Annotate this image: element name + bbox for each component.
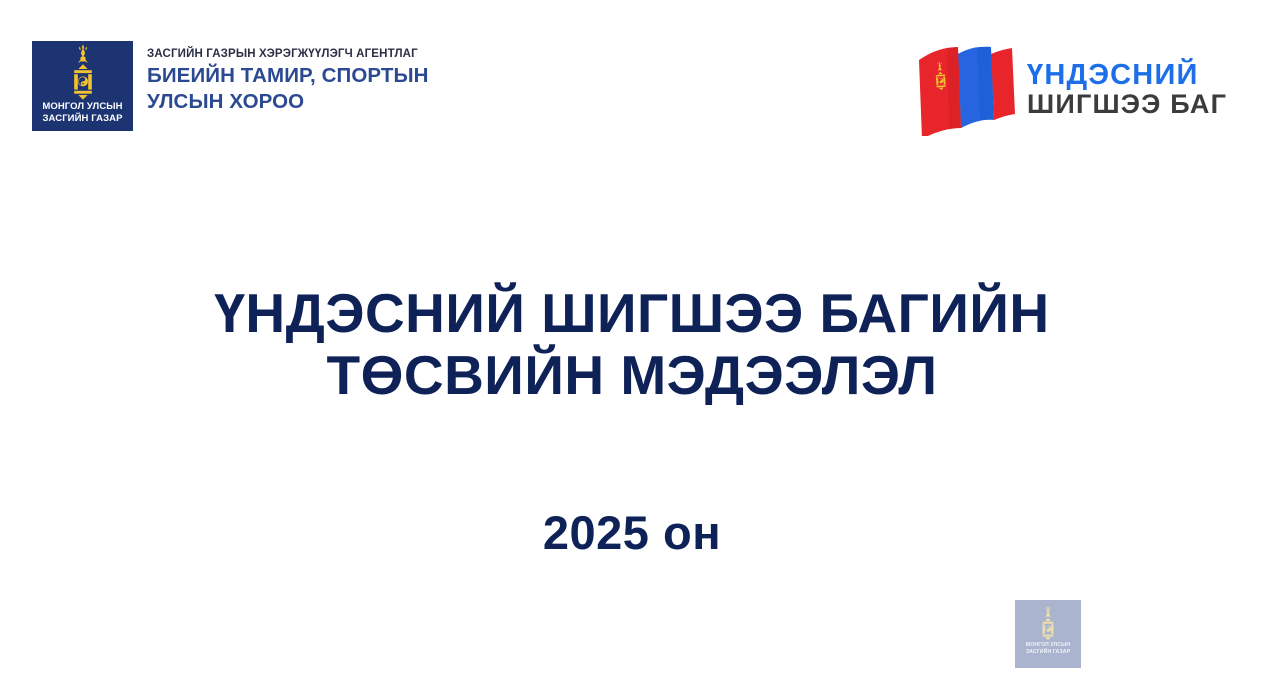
agency-kicker: ЗАСГИЙН ГАЗРЫН ХЭРЭГЖҮҮЛЭГЧ АГЕНТЛАГ — [147, 47, 429, 61]
soyombo-emblem-icon — [62, 44, 104, 100]
title-slide: МОНГОЛ УЛСЫН ЗАСГИЙН ГАЗАР ЗАСГИЙН ГАЗРЫ… — [0, 0, 1264, 691]
soyombo-emblem-icon — [1035, 605, 1061, 641]
agency-name-line-1: БИЕИЙН ТАМИР, СПОРТЫН — [147, 63, 429, 89]
agency-name: БИЕИЙН ТАМИР, СПОРТЫН УЛСЫН ХОРОО — [147, 63, 429, 115]
watermark-caption-line-1: МОНГОЛ УЛСЫН — [1026, 642, 1070, 649]
team-name-line-1: ҮНДЭСНИЙ — [1027, 60, 1227, 90]
government-emblem-watermark: МОНГОЛ УЛСЫН ЗАСГИЙН ГАЗАР — [1015, 600, 1081, 668]
agency-text-block: ЗАСГИЙН ГАЗРЫН ХЭРЭГЖҮҮЛЭГЧ АГЕНТЛАГ БИЕ… — [147, 41, 429, 115]
national-team-text-block: ҮНДЭСНИЙ ШИГШЭЭ БАГ — [1027, 60, 1227, 119]
page-title: ҮНДЭСНИЙ ШИГШЭЭ БАГИЙН ТӨСВИЙН МЭДЭЭЛЭЛ — [0, 282, 1264, 406]
watermark-caption: МОНГОЛ УЛСЫН ЗАСГИЙН ГАЗАР — [1026, 642, 1070, 655]
government-emblem-caption: МОНГОЛ УЛСЫН ЗАСГИЙН ГАЗАР — [42, 101, 122, 124]
mongolian-waving-flag-icon — [903, 40, 1021, 136]
gov-caption-line-1: МОНГОЛ УЛСЫН — [42, 101, 122, 113]
national-team-lockup: ҮНДЭСНИЙ ШИГШЭЭ БАГ — [903, 40, 1227, 136]
page-title-line-1: ҮНДЭСНИЙ ШИГШЭЭ БАГИЙН — [0, 282, 1264, 344]
government-agency-lockup: МОНГОЛ УЛСЫН ЗАСГИЙН ГАЗАР ЗАСГИЙН ГАЗРЫ… — [32, 41, 429, 131]
year-label: 2025 он — [0, 505, 1264, 561]
team-name-line-2: ШИГШЭЭ БАГ — [1027, 90, 1227, 119]
government-emblem-box: МОНГОЛ УЛСЫН ЗАСГИЙН ГАЗАР — [32, 41, 133, 131]
page-title-line-2: ТӨСВИЙН МЭДЭЭЛЭЛ — [0, 344, 1264, 406]
agency-name-line-2: УЛСЫН ХОРОО — [147, 89, 429, 115]
watermark-caption-line-2: ЗАСГИЙН ГАЗАР — [1026, 649, 1070, 656]
gov-caption-line-2: ЗАСГИЙН ГАЗАР — [42, 113, 122, 125]
